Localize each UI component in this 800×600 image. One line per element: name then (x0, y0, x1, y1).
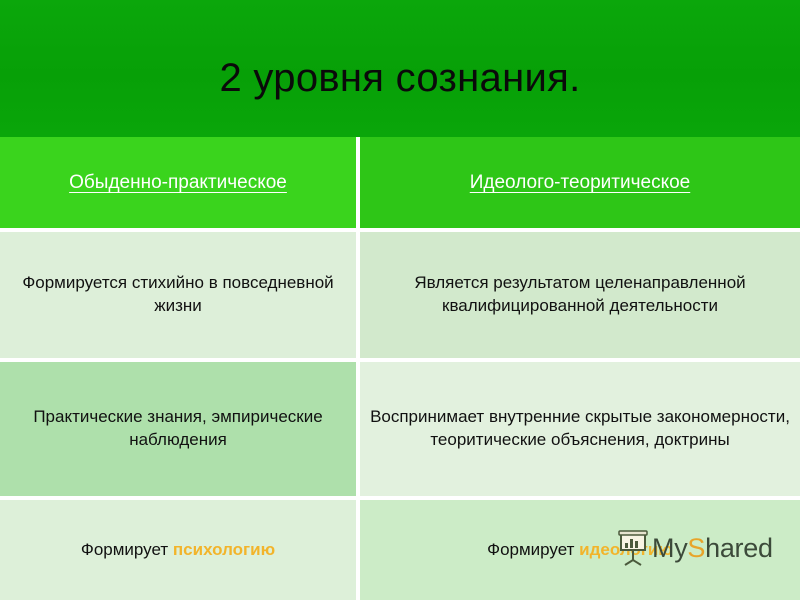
table-cell-right: Воспринимает внутренние скрытые закономе… (360, 362, 800, 496)
table-header-cell-left: Обыденно-практическое (0, 137, 356, 228)
page-title: 2 уровня сознания. (219, 38, 580, 100)
cell-text: Формирует психологию (81, 539, 275, 562)
table-row: Практические знания, эмпирические наблюд… (0, 362, 800, 496)
table-header-row: Обыденно-практическое Идеолого-теоритиче… (0, 137, 800, 228)
table-header-cell-right: Идеолого-теоритическое (360, 137, 800, 228)
column-header-label-left: Обыденно-практическое (69, 170, 287, 195)
slide: 2 уровня сознания. Обыденно-практическое… (0, 0, 800, 600)
cell-text-accent: идеологию (579, 540, 673, 559)
comparison-table: Обыденно-практическое Идеолого-теоритиче… (0, 137, 800, 600)
table-cell-right: Формирует идеологию (360, 500, 800, 600)
cell-text: Является результатом целенаправленной кв… (370, 272, 790, 317)
table-row: Формирует психологию Формирует идеологию (0, 500, 800, 600)
cell-text: Практические знания, эмпирические наблюд… (10, 406, 346, 451)
column-header-label-right: Идеолого-теоритическое (470, 170, 690, 195)
cell-text: Формирует идеологию (487, 539, 673, 562)
title-banner: 2 уровня сознания. (0, 0, 800, 137)
cell-text: Воспринимает внутренние скрытые закономе… (370, 406, 790, 451)
cell-text: Формируется стихийно в повседневной жизн… (10, 272, 346, 317)
cell-text-accent: психологию (173, 540, 275, 559)
table-cell-left: Практические знания, эмпирические наблюд… (0, 362, 356, 496)
cell-text-prefix: Формирует (487, 540, 579, 559)
table-cell-left: Формирует психологию (0, 500, 356, 600)
cell-text-prefix: Формирует (81, 540, 173, 559)
table-cell-right: Является результатом целенаправленной кв… (360, 232, 800, 358)
table-cell-left: Формируется стихийно в повседневной жизн… (0, 232, 356, 358)
table-row: Формируется стихийно в повседневной жизн… (0, 232, 800, 358)
